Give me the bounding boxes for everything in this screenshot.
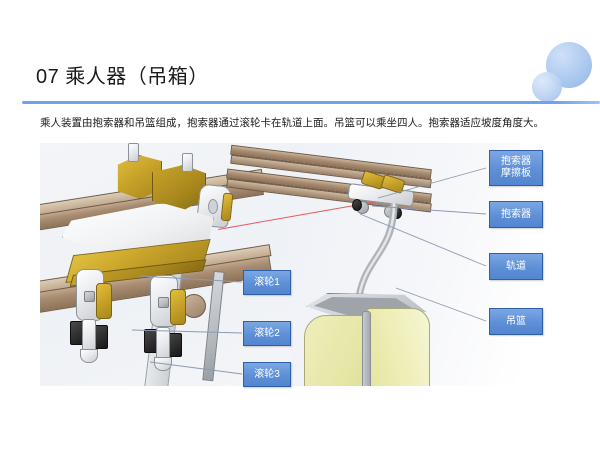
roller-spring-2 (154, 357, 172, 371)
callout-cabin[interactable]: 吊篮 (489, 308, 543, 335)
roller-spring-1 (80, 349, 98, 363)
callout-gripper[interactable]: 抱索器 (489, 201, 543, 228)
diagram-panel (40, 143, 520, 386)
roller-wheel-1 (96, 283, 112, 319)
roller-wheel-2 (170, 289, 186, 325)
header-decoration (510, 40, 600, 118)
support-strut (202, 271, 224, 382)
page-title: 07 乘人器（吊箱） (36, 60, 209, 89)
small-blue-circle-icon (532, 72, 562, 102)
roller-hub-2 (158, 297, 169, 308)
friction-plate-hole (208, 199, 218, 214)
gripper-bolt-right (182, 153, 193, 172)
callout-roller-3[interactable]: 滚轮3 (243, 362, 291, 387)
gripper-bolt-left (128, 143, 139, 162)
cabin-hanger-arm (302, 195, 392, 305)
callout-track[interactable]: 轨道 (489, 253, 543, 280)
friction-plate-pad (221, 193, 234, 222)
roller-hub-1 (84, 291, 95, 302)
cabin-corner-post (362, 311, 371, 386)
slide-root: 07 乘人器（吊箱） 乘人装置由抱索器和吊篮组成，抱索器通过滚轮卡在轨道上面。吊… (0, 0, 600, 450)
subtitle-text: 乘人装置由抱索器和吊篮组成，抱索器通过滚轮卡在轨道上面。吊篮可以乘坐四人。抱索器… (40, 115, 585, 131)
title-divider (22, 101, 600, 104)
callout-roller-2[interactable]: 滚轮2 (243, 321, 291, 346)
cabin-panel-right (366, 308, 430, 386)
callout-gripper-friction-plate[interactable]: 抱索器 摩擦板 (489, 150, 543, 186)
callout-roller-1[interactable]: 滚轮1 (243, 270, 291, 295)
